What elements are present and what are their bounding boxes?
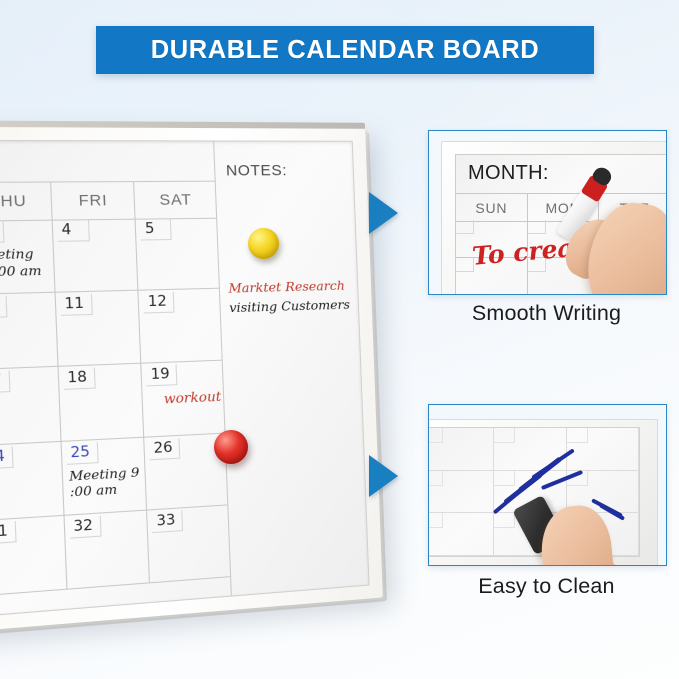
calendar-day-cell: 5: [136, 217, 220, 290]
weekday-header: THU: [0, 182, 52, 220]
red-magnet: [214, 430, 248, 464]
inset-board-surface: MONTH: SUN MON TUE: [455, 154, 667, 295]
board-surface: ED THU FRI SAT 3 Meeting 10:00 am: [0, 140, 370, 624]
calendar-week-row: 31 32 33: [0, 505, 231, 603]
day-number: 19: [146, 365, 178, 387]
day-number: 33: [152, 510, 184, 533]
inset-board-frame: [428, 419, 658, 566]
calendar-day-cell: 17: [0, 367, 61, 445]
inset-day-cell: [428, 428, 494, 470]
calendar-day-cell: 19 workout: [142, 361, 226, 436]
inset-easy-to-clean: [428, 404, 667, 566]
weekday-header: SAT: [135, 181, 218, 218]
caption-smooth-writing: Smooth Writing: [428, 301, 665, 326]
day-number: 25: [66, 442, 99, 465]
calendar-day-cell: 10: [0, 293, 58, 370]
inset-day-cell: [428, 513, 494, 555]
banner-title: DURABLE CALENDAR BOARD: [151, 36, 540, 65]
calendar-day-cell: 25 Meeting 9 :00 am: [61, 437, 147, 514]
notes-handwriting: Marktet Research visiting Customers: [228, 275, 354, 318]
day-number: 32: [69, 516, 102, 539]
inset-smooth-writing: MONTH: SUN MON TUE: [428, 130, 667, 295]
month-label: MONTH:: [468, 162, 549, 185]
main-calendar-board: ED THU FRI SAT 3 Meeting 10:00 am: [0, 125, 383, 639]
product-feature-graphic: DURABLE CALENDAR BOARD ED THU FRI SAT: [0, 0, 679, 679]
board-frame: ED THU FRI SAT 3 Meeting 10:00 am: [0, 125, 383, 639]
calendar-day-cell: 12: [139, 289, 223, 363]
calendar-day-cell: 32: [64, 511, 150, 589]
yellow-magnet: [248, 228, 279, 259]
inset-day-cell: [567, 428, 639, 470]
day-number: 5: [140, 219, 172, 240]
calendar-week-row: ing! 10 11 12: [0, 289, 223, 374]
weekday-header: SUN: [456, 194, 528, 221]
day-number: 26: [149, 438, 181, 460]
day-number: 12: [143, 292, 175, 314]
day-number: 24: [0, 446, 13, 469]
day-note: workout: [164, 390, 222, 409]
caption-easy-to-clean: Easy to Clean: [428, 574, 665, 599]
calendar-day-cell: 3 Meeting 10:00 am: [0, 218, 55, 294]
calendar-day-cell: 11: [55, 291, 142, 366]
calendar-day-cell: 31: [0, 516, 67, 596]
title-banner: DURABLE CALENDAR BOARD: [96, 26, 594, 74]
day-note: Meeting 9 :00 am: [69, 464, 144, 501]
day-note: Meeting 10:00 am: [0, 245, 51, 280]
day-number: 31: [0, 521, 16, 545]
calendar-day-cell: 18: [58, 364, 144, 440]
notes-label: NOTES:: [226, 162, 288, 180]
arrow-to-smooth-writing: [369, 192, 398, 234]
board-top-edge: [0, 120, 365, 129]
calendar-weeks: 3 Meeting 10:00 am 4 5: [0, 217, 231, 604]
inset-day-cell: [428, 471, 494, 513]
arrow-to-easy-to-clean: [369, 455, 398, 497]
calendar-day-cell: 4: [52, 218, 139, 292]
inset-board-frame: MONTH: SUN MON TUE: [441, 141, 667, 295]
day-number: 4: [57, 220, 90, 242]
inset-board-surface: [428, 427, 640, 557]
notes-panel: NOTES: Marktet Research visiting Custome…: [213, 141, 368, 595]
day-number: 11: [60, 294, 93, 316]
calendar-day-cell: 24: [0, 442, 64, 521]
weekday-header: FRI: [51, 182, 136, 220]
inset-week-row: [428, 428, 639, 471]
calendar-grid-area: ED THU FRI SAT 3 Meeting 10:00 am: [0, 141, 232, 623]
day-number: 3: [0, 221, 4, 243]
day-number: 17: [0, 371, 10, 394]
notes-line-2: visiting Customers: [229, 294, 355, 317]
calendar-day-cell: 33: [148, 505, 232, 582]
day-number: 18: [63, 368, 96, 390]
calendar-week-row: 3 Meeting 10:00 am 4 5: [0, 217, 220, 298]
day-number: 10: [0, 296, 7, 318]
